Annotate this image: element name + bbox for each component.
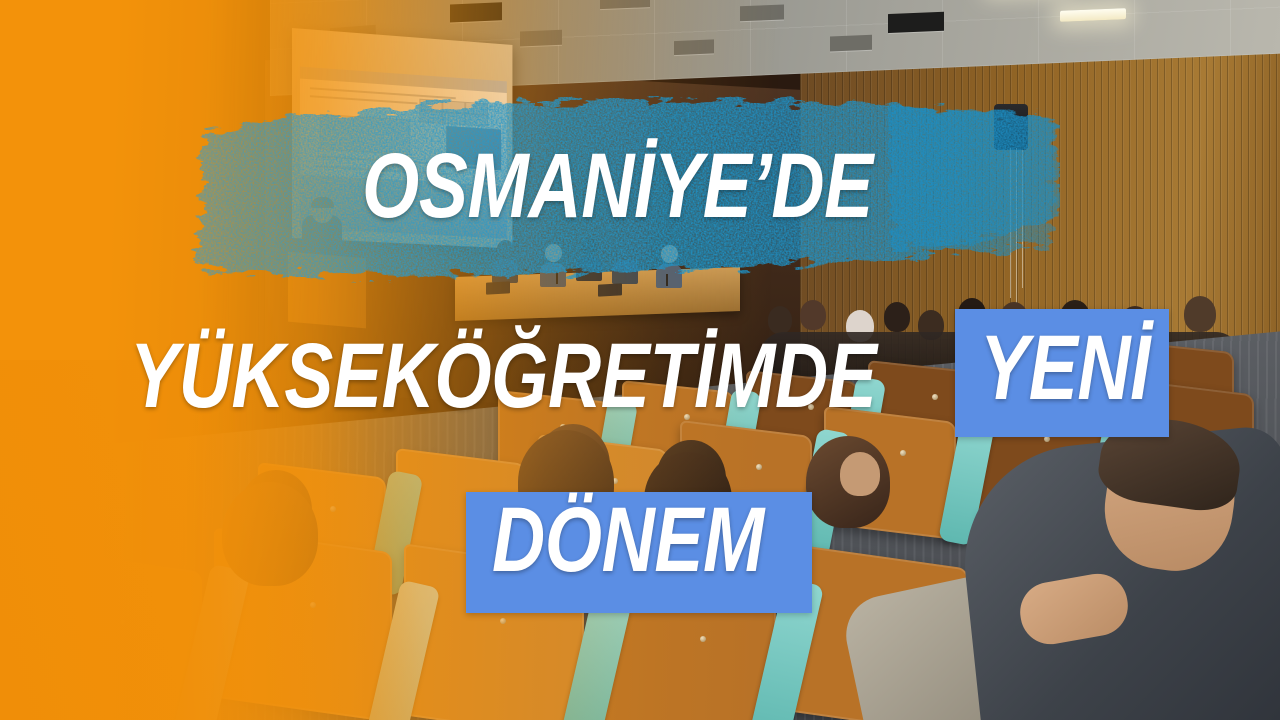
ceiling-vent (674, 39, 714, 55)
seat-bolt (500, 618, 506, 624)
audience-head (518, 430, 614, 534)
seat-bolt (700, 636, 706, 642)
seat-bolt (120, 620, 126, 626)
laptop (486, 281, 510, 294)
slide-table-cell (442, 112, 465, 125)
ceiling-vent (740, 4, 784, 21)
auditorium-seat (404, 543, 584, 720)
ceiling-vent (450, 2, 502, 22)
panelist (492, 240, 518, 283)
slide-table-cell (419, 110, 442, 123)
hanging-wire (1016, 148, 1017, 308)
video-thumbnail: OSMANİYE’DE YÜKSEKÖĞRETİMDE DÖNEM YENİ (0, 0, 1280, 720)
speaker-hair (311, 197, 334, 208)
left-wall (0, 0, 300, 470)
seat-bolt (684, 414, 690, 420)
seat-bolt (1056, 384, 1062, 390)
slide-table-cell (320, 114, 410, 155)
audience-head (840, 452, 880, 496)
wall-mounted-speaker (994, 104, 1028, 150)
seat-bolt (932, 394, 938, 400)
auditorium-seat (30, 548, 202, 720)
audience-head (958, 298, 986, 330)
audience-head (644, 452, 732, 548)
seat-bolt (756, 464, 762, 470)
audience-head (1000, 302, 1028, 334)
microphone (556, 272, 558, 284)
ceiling-vent (520, 30, 562, 47)
audience-head (222, 482, 318, 586)
seat-bolt (470, 492, 476, 498)
seat-bolt (310, 602, 316, 608)
slide-table-cell (465, 114, 488, 127)
panelist (612, 241, 638, 284)
audience-head (768, 306, 792, 334)
seat-bolt (900, 450, 906, 456)
audience-head (1060, 300, 1090, 334)
panelist (656, 245, 682, 288)
slide-text-line (310, 95, 418, 104)
hanging-wire (1022, 150, 1023, 288)
audience-head (1184, 296, 1216, 332)
ceiling-vent (888, 12, 944, 33)
laptop (598, 283, 622, 296)
seat-bolt (330, 506, 336, 512)
audience-head (884, 302, 910, 332)
panelist (540, 244, 566, 287)
seat-bolt (1044, 436, 1050, 442)
hanging-wire (1010, 148, 1011, 298)
background-photograph (0, 0, 1280, 720)
microphone (666, 274, 668, 286)
ceiling-vent (830, 35, 872, 52)
slide-text-line (316, 165, 452, 175)
seat-bolt (808, 404, 814, 410)
podium (288, 252, 366, 329)
audience-head (800, 300, 826, 330)
panelist (576, 238, 602, 281)
